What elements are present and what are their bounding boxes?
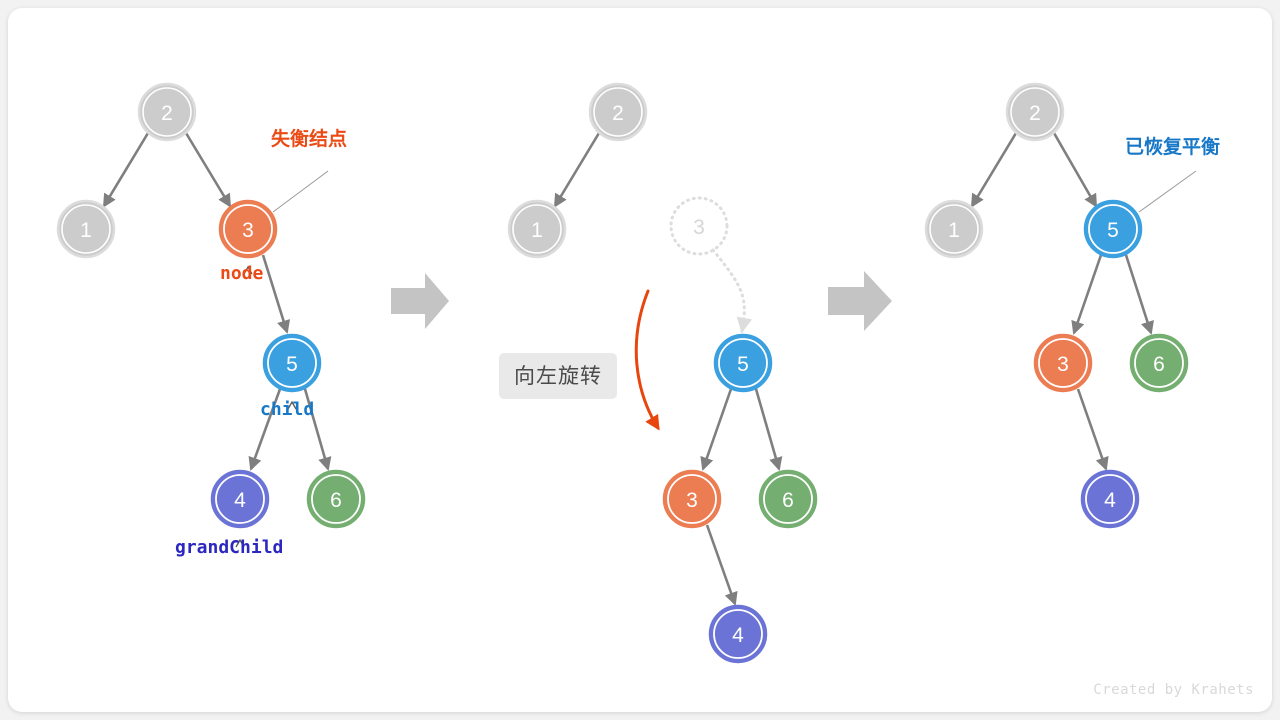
credit-watermark: Created by Krahets xyxy=(1093,682,1254,698)
panel-before: 2 1 3 5 xyxy=(58,84,364,547)
edge-3-4 xyxy=(707,525,735,604)
node-5-after[interactable]: 5 xyxy=(1085,201,1141,257)
edge-5-3 xyxy=(703,389,731,469)
node-4-during[interactable]: 4 xyxy=(710,606,766,662)
node-6-during[interactable]: 6 xyxy=(760,471,816,527)
edge-5-3 xyxy=(1074,255,1101,333)
step-arrow-2-icon xyxy=(828,271,892,331)
node-value: 5 xyxy=(286,353,298,376)
leader-line-unbalanced xyxy=(273,171,328,212)
node-value: 6 xyxy=(782,489,794,512)
step-arrow-1-icon xyxy=(391,273,449,329)
annotation-node-label: node xyxy=(220,263,263,284)
node-2-during[interactable]: 2 xyxy=(590,84,646,140)
annotation-rebalanced: 已恢复平衡 xyxy=(1125,132,1220,159)
node-value: 3 xyxy=(686,489,698,512)
node-value: 3 xyxy=(242,219,254,242)
rotate-arc-arrow xyxy=(636,291,658,428)
node-value: 1 xyxy=(531,219,543,242)
node-value: 1 xyxy=(80,219,92,242)
edge-2-1 xyxy=(555,133,599,206)
edges-after xyxy=(972,133,1151,469)
diagram-card: 2 1 3 5 xyxy=(8,8,1272,712)
edge-2-1 xyxy=(972,133,1016,206)
node-1-after[interactable]: 1 xyxy=(926,201,982,257)
node-3-before[interactable]: 3 xyxy=(220,201,276,257)
annotation-child-label: child xyxy=(260,399,314,420)
node-6-after[interactable]: 6 xyxy=(1131,335,1187,391)
rotate-left-label: 向左旋转 xyxy=(499,353,617,399)
leader-line-rebalanced xyxy=(1139,171,1196,212)
node-2-after[interactable]: 2 xyxy=(1007,84,1063,140)
node-1-before[interactable]: 1 xyxy=(58,201,114,257)
diagram-stage: 2 1 3 5 xyxy=(8,8,1272,712)
node-1-during[interactable]: 1 xyxy=(509,201,565,257)
node-4-after[interactable]: 4 xyxy=(1082,471,1138,527)
edge-5-6 xyxy=(1126,255,1151,333)
node-3-during[interactable]: 3 xyxy=(664,471,720,527)
node-value: 4 xyxy=(234,489,246,512)
node-value: 4 xyxy=(1104,489,1116,512)
node-6-before[interactable]: 6 xyxy=(308,471,364,527)
edge-2-5 xyxy=(1054,133,1096,206)
edge-3-5 xyxy=(263,255,287,332)
node-3-ghost-during: 3 xyxy=(671,198,727,254)
node-5-before[interactable]: 5 xyxy=(264,335,320,391)
node-value: 2 xyxy=(1029,102,1041,125)
edge-3-4 xyxy=(1078,389,1106,469)
node-value: 5 xyxy=(1107,219,1119,242)
ghost-edge-3-5 xyxy=(713,250,744,331)
edge-2-3 xyxy=(186,133,230,206)
node-value: 2 xyxy=(612,102,624,125)
node-3-after[interactable]: 3 xyxy=(1035,335,1091,391)
node-4-before[interactable]: 4 xyxy=(212,471,268,527)
edge-2-1 xyxy=(104,133,148,206)
node-value: 6 xyxy=(1153,353,1165,376)
node-5-during[interactable]: 5 xyxy=(715,335,771,391)
diagram-svg: 2 1 3 5 xyxy=(8,8,1272,712)
annotation-grandchild-label: grandChild xyxy=(175,537,283,558)
annotation-unbalanced-node: 失衡结点 xyxy=(271,124,347,151)
node-value: 5 xyxy=(737,353,749,376)
node-value: 3 xyxy=(693,216,705,239)
edge-5-6 xyxy=(756,389,779,469)
node-value: 3 xyxy=(1057,353,1069,376)
node-value: 2 xyxy=(161,102,173,125)
node-value: 1 xyxy=(948,219,960,242)
node-2-before[interactable]: 2 xyxy=(139,84,195,140)
node-value: 4 xyxy=(732,624,744,647)
node-value: 6 xyxy=(330,489,342,512)
